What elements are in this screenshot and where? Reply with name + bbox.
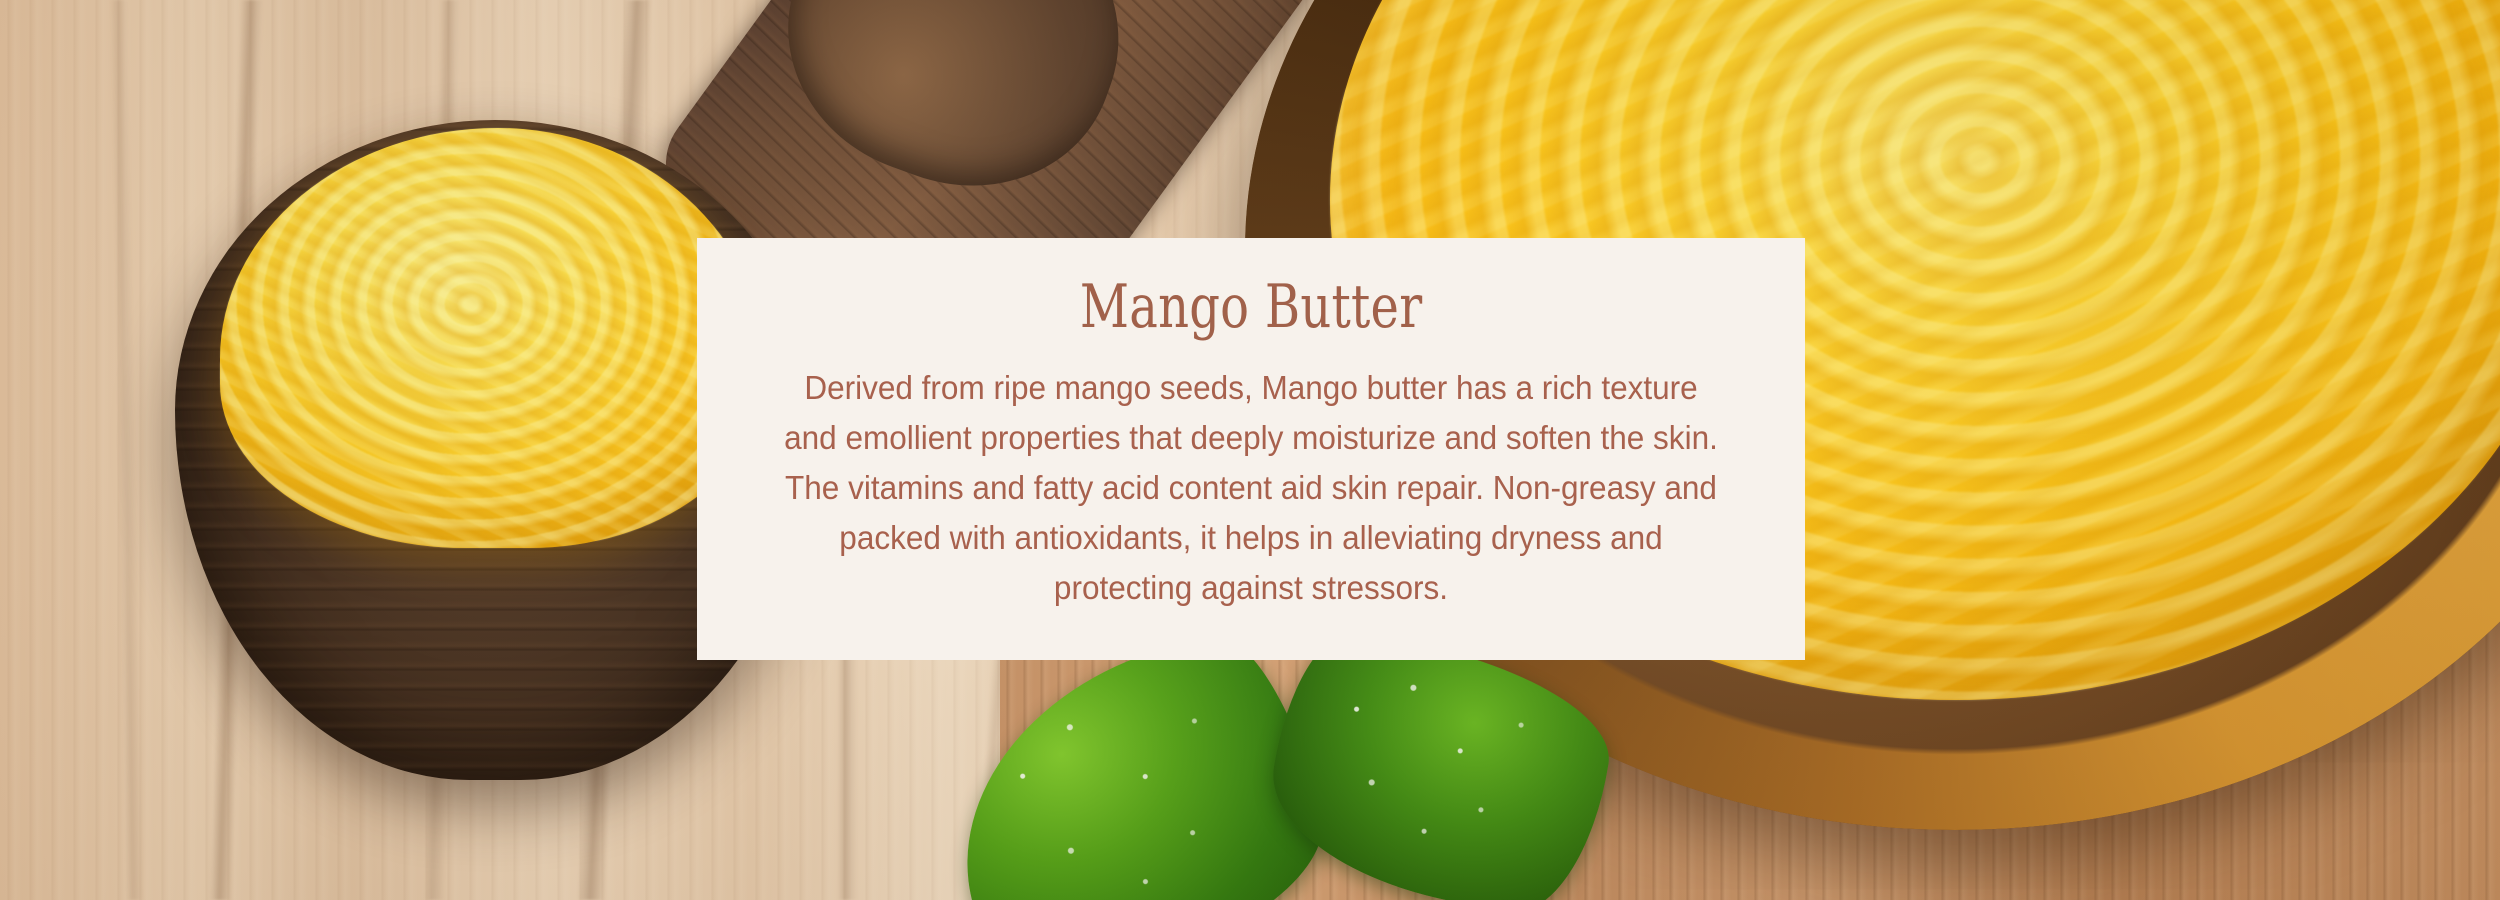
product-description: Derived from ripe mango seeds, Mango but…	[777, 363, 1724, 613]
product-info-card: Mango Butter Derived from ripe mango see…	[697, 238, 1805, 660]
product-hero-banner: Mango Butter Derived from ripe mango see…	[0, 0, 2500, 900]
page-title: Mango Butter	[1080, 272, 1423, 343]
